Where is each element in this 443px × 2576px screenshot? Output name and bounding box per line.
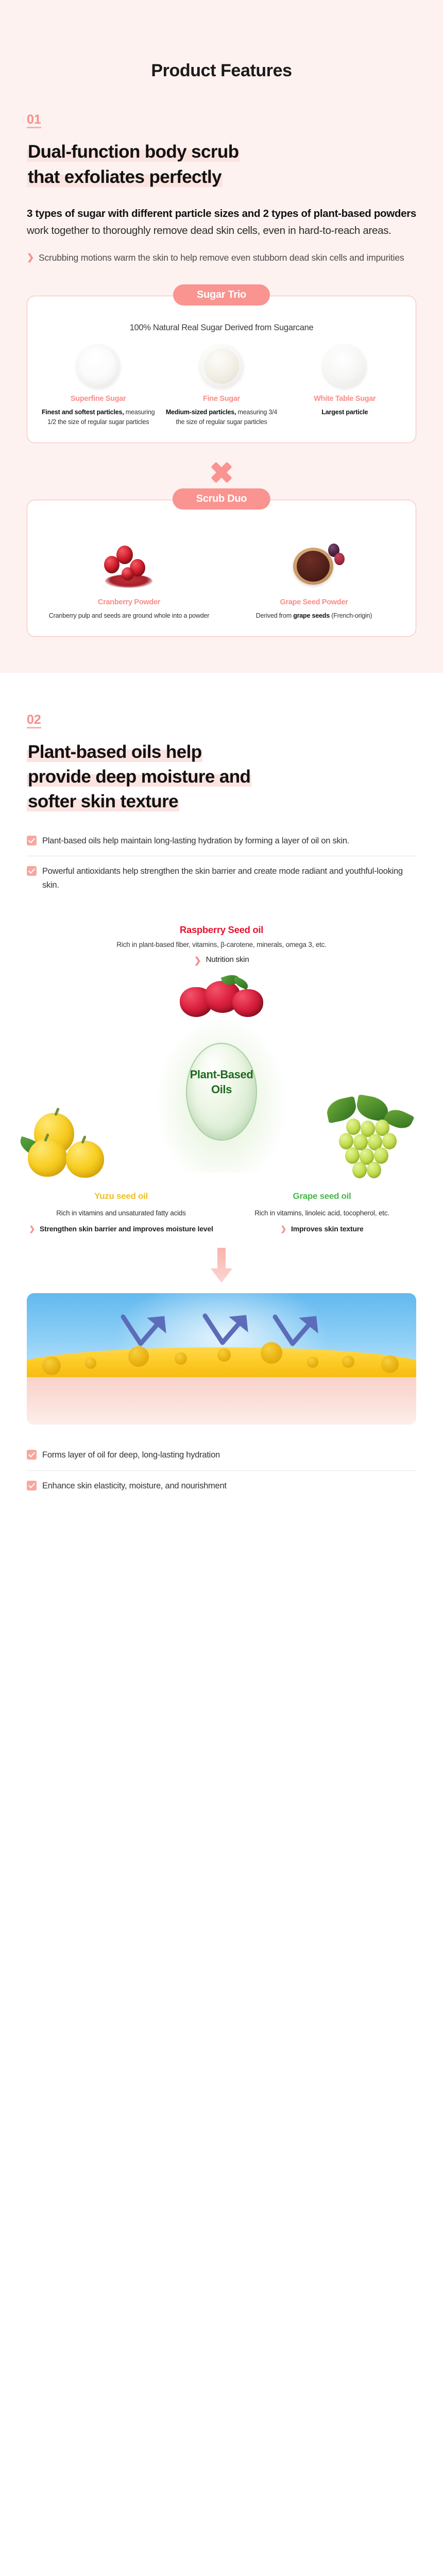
step-number-01: 01 bbox=[27, 113, 41, 128]
arrow-note-text: Scrubbing motions warm the skin to help … bbox=[39, 250, 404, 265]
check-text: Powerful antioxidants help strengthen th… bbox=[42, 865, 416, 892]
oil-column-yuzu: Yuzu seed oil Rich in vitamins and unsat… bbox=[21, 1191, 221, 1234]
checkbox-checked-icon bbox=[27, 866, 37, 876]
oil-name: Grape seed oil bbox=[229, 1191, 415, 1201]
arrow-down-icon bbox=[210, 1248, 233, 1284]
moisture-arrow-icon bbox=[202, 1313, 264, 1364]
oil-column-grape: Grape seed oil Rich in vitamins, linolei… bbox=[221, 1191, 422, 1234]
heading-line-1: Plant-based oils help bbox=[27, 742, 202, 762]
scrub-desc-post: (French-origin) bbox=[330, 612, 372, 619]
scrub-name: Grape Seed Powder bbox=[224, 598, 404, 606]
raspberry-desc: Rich in plant-based fiber, vitamins, β-c… bbox=[27, 940, 416, 951]
checkbox-checked-icon bbox=[27, 1450, 37, 1460]
checkbox-checked-icon bbox=[27, 836, 37, 845]
heading-line-2: that exfoliates perfectly bbox=[27, 167, 223, 187]
section-02-heading: Plant-based oils help provide deep moist… bbox=[27, 740, 416, 815]
scrub-desc: Cranberry pulp and seeds are ground whol… bbox=[39, 611, 219, 621]
section-02-inner: 02 Plant-based oils help provide deep mo… bbox=[0, 713, 443, 968]
checkbox-checked-icon bbox=[27, 1481, 37, 1490]
oil-drop-label-line1: Plant-Based bbox=[190, 1068, 253, 1081]
check-text: Enhance skin elasticity, moisture, and n… bbox=[42, 1479, 227, 1493]
oil-desc: Rich in vitamins and unsaturated fatty a… bbox=[28, 1208, 214, 1219]
product-features-page: Product Features 01 Dual-function body s… bbox=[0, 0, 443, 1532]
skin-oil-barrier-diagram bbox=[27, 1293, 416, 1425]
oil-arrow-note: ❯ Strengthen skin barrier and improves m… bbox=[28, 1223, 214, 1234]
raspberry-title: Raspberry Seed oil bbox=[27, 924, 416, 936]
green-grapes-icon bbox=[313, 1097, 432, 1182]
oil-drop-label-line2: Oils bbox=[211, 1083, 232, 1096]
section-01-heading: Dual-function body scrub that exfoliates… bbox=[27, 140, 416, 190]
check-text: Forms layer of oil for deep, long-lastin… bbox=[42, 1448, 220, 1462]
sugar-desc: Finest and softest particles, measuring … bbox=[39, 408, 158, 427]
section-01-container: Product Features 01 Dual-function body s… bbox=[0, 0, 443, 673]
raspberry-arrow-text: Nutrition skin bbox=[206, 954, 249, 966]
sugar-name: White Table Sugar bbox=[285, 395, 404, 403]
scrub-desc: Derived from grape seeds (French-origin) bbox=[224, 611, 404, 621]
check-text: Plant-based oils help maintain long-last… bbox=[42, 834, 349, 848]
step-number-02: 02 bbox=[27, 713, 41, 728]
page-title: Product Features bbox=[0, 0, 443, 81]
check-row: Enhance skin elasticity, moisture, and n… bbox=[27, 1471, 416, 1501]
section-02-container: 02 Plant-based oils help provide deep mo… bbox=[0, 673, 443, 1532]
check-row: Plant-based oils help maintain long-last… bbox=[27, 826, 416, 856]
sugar-trio-card: 100% Natural Real Sugar Derived from Sug… bbox=[27, 296, 416, 443]
x-cross-icon bbox=[210, 461, 233, 484]
section-02-header: 02 bbox=[27, 713, 416, 728]
sugar-name: Superfine Sugar bbox=[39, 395, 158, 403]
oil-columns: Yuzu seed oil Rich in vitamins and unsat… bbox=[0, 1191, 443, 1234]
sugar-column: Fine Sugar Medium-sized particles, measu… bbox=[160, 344, 283, 427]
sugar-desc: Largest particle bbox=[285, 408, 404, 417]
scrub-duo-card: Cranberry Powder Cranberry pulp and seed… bbox=[27, 500, 416, 637]
sugar-desc-bold: Largest particle bbox=[321, 409, 368, 416]
scrub-column: Grape Seed Powder Derived from grape see… bbox=[221, 540, 406, 621]
yuzu-icon bbox=[19, 1101, 127, 1179]
scrub-desc-pre: Derived from bbox=[256, 612, 293, 619]
section-01-arrow-note: ❯ Scrubbing motions warm the skin to hel… bbox=[27, 250, 416, 265]
oil-arrow-note: ❯ Improves skin texture bbox=[229, 1223, 415, 1234]
down-arrow-divider bbox=[0, 1248, 443, 1284]
scrub-duo-badge: Scrub Duo bbox=[173, 488, 270, 510]
sugar-trio-card-wrapper: Sugar Trio 100% Natural Real Sugar Deriv… bbox=[27, 296, 416, 443]
scrub-name: Cranberry Powder bbox=[39, 598, 219, 606]
oil-desc: Rich in vitamins, linoleic acid, tocophe… bbox=[229, 1208, 415, 1219]
bottom-check-list: Forms layer of oil for deep, long-lastin… bbox=[0, 1425, 443, 1501]
sugar-trio-note: 100% Natural Real Sugar Derived from Sug… bbox=[37, 323, 406, 333]
lede-rest: work together to thoroughly remove dead … bbox=[27, 225, 391, 236]
check-row: Forms layer of oil for deep, long-lastin… bbox=[27, 1440, 416, 1470]
check-row: Powerful antioxidants help strengthen th… bbox=[27, 856, 416, 900]
heading-line-3: softer skin texture bbox=[27, 791, 179, 811]
chevron-right-icon: ❯ bbox=[280, 1223, 286, 1234]
scrub-desc-pre: Cranberry pulp and seeds are ground whol… bbox=[49, 612, 209, 619]
section-01-lede: 3 types of sugar with different particle… bbox=[27, 205, 416, 239]
raspberry-arrow-note: ❯ Nutrition skin bbox=[27, 954, 416, 968]
section-02-check-list: Plant-based oils help maintain long-last… bbox=[27, 826, 416, 901]
grape-seed-spoon-icon bbox=[284, 540, 345, 590]
oil-arrow-text: Improves skin texture bbox=[291, 1223, 364, 1234]
cranberry-icon bbox=[99, 540, 160, 590]
sugar-columns: Superfine Sugar Finest and softest parti… bbox=[37, 344, 406, 427]
lede-bold: 3 types of sugar with different particle… bbox=[27, 208, 416, 219]
scrub-duo-card-wrapper: Scrub Duo Cranberry Powder bbox=[27, 500, 416, 637]
oil-name: Yuzu seed oil bbox=[28, 1191, 214, 1201]
scrub-columns: Cranberry Powder Cranberry pulp and seed… bbox=[37, 540, 406, 621]
plant-based-oils-graphic: Plant-Based Oils bbox=[0, 1018, 443, 1188]
sugar-bowl-icon bbox=[77, 344, 120, 387]
section-01-header: 01 bbox=[27, 113, 416, 128]
raspberry-icon bbox=[173, 974, 270, 1021]
sugar-column: White Table Sugar Largest particle bbox=[283, 344, 406, 427]
chevron-right-icon: ❯ bbox=[29, 1223, 35, 1234]
section-01-inner: 01 Dual-function body scrub that exfolia… bbox=[0, 113, 443, 637]
oil-arrow-text: Strengthen skin barrier and improves moi… bbox=[40, 1223, 213, 1234]
moisture-arrow-icon bbox=[120, 1314, 182, 1365]
oil-drop-label: Plant-Based Oils bbox=[162, 1067, 281, 1097]
x-separator bbox=[27, 461, 416, 484]
sugar-name: Fine Sugar bbox=[162, 395, 281, 403]
heading-line-2: provide deep moisture and bbox=[27, 767, 251, 787]
sugar-desc-bold: Medium-sized particles, bbox=[166, 409, 236, 416]
sugar-bowl-icon bbox=[200, 344, 243, 387]
scrub-desc-bold: grape seeds bbox=[293, 612, 330, 619]
scrub-column: Cranberry Powder Cranberry pulp and seed… bbox=[37, 540, 221, 621]
sugar-trio-badge: Sugar Trio bbox=[173, 284, 270, 306]
sugar-desc-bold: Finest and softest particles, bbox=[42, 409, 124, 416]
chevron-right-icon: ❯ bbox=[194, 954, 201, 968]
chevron-right-icon: ❯ bbox=[27, 250, 34, 264]
sugar-desc: Medium-sized particles, measuring 3/4 th… bbox=[162, 408, 281, 427]
sugar-column: Superfine Sugar Finest and softest parti… bbox=[37, 344, 160, 427]
sugar-bowl-icon bbox=[323, 344, 366, 387]
heading-line-1: Dual-function body scrub bbox=[27, 142, 240, 162]
moisture-arrow-icon bbox=[272, 1314, 334, 1365]
